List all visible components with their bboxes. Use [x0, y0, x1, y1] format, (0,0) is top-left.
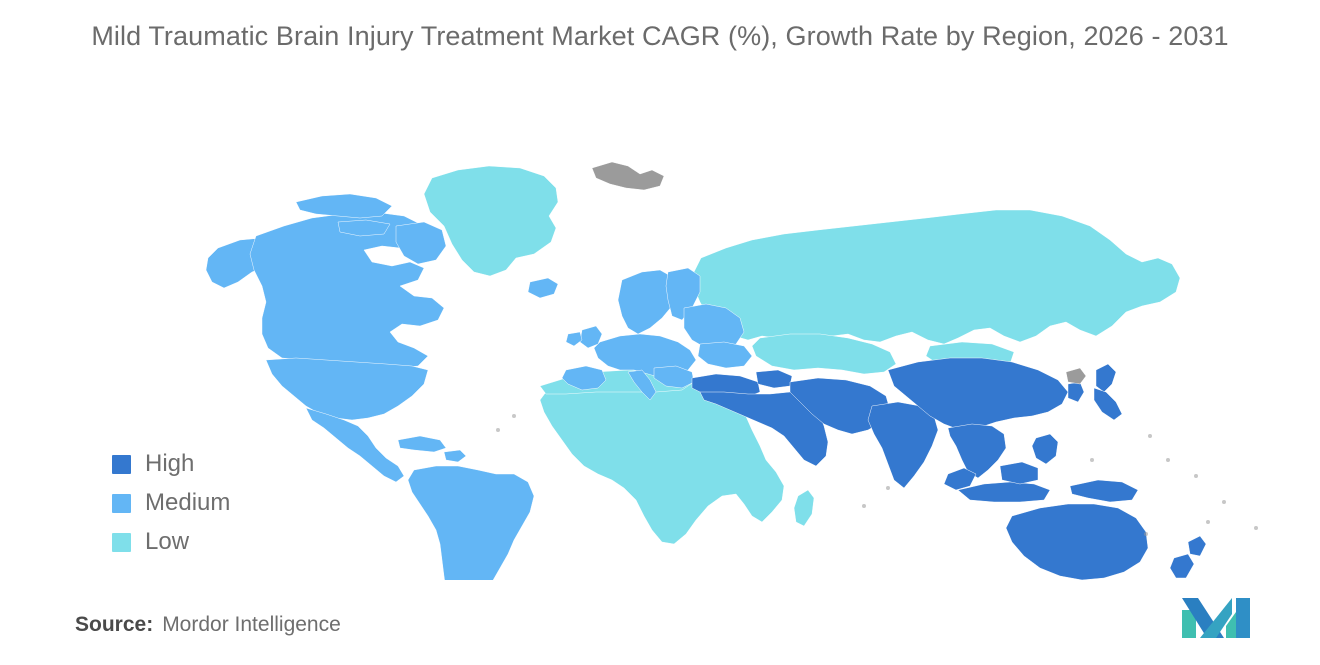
islet	[512, 414, 516, 418]
legend-item-low[interactable]: Low	[112, 530, 230, 554]
islet	[1148, 434, 1152, 438]
legend-label-medium: Medium	[145, 491, 230, 515]
country-russia	[694, 210, 1180, 348]
legend-swatch-high	[112, 455, 131, 474]
source-value: Mordor Intelligence	[162, 613, 341, 637]
legend-label-high: High	[145, 452, 194, 476]
country-iceland-medium	[528, 278, 558, 298]
region-baffin-island	[396, 222, 446, 264]
country-indonesia	[958, 482, 1050, 502]
islet	[1144, 532, 1148, 536]
country-north-korea	[1066, 368, 1086, 384]
legend-swatch-low	[112, 533, 131, 552]
islet	[862, 504, 866, 508]
region-southeast-asia	[948, 424, 1006, 478]
country-new-zealand	[1188, 536, 1206, 556]
legend-label-low: Low	[145, 530, 189, 554]
region-caribbean	[398, 436, 446, 452]
region-south-america	[408, 466, 534, 580]
legend-item-high[interactable]: High	[112, 452, 230, 476]
source-label: Source:	[75, 613, 153, 637]
legend-swatch-medium	[112, 494, 131, 513]
island-borneo	[1000, 462, 1038, 484]
page-title: Mild Traumatic Brain Injury Treatment Ma…	[60, 18, 1260, 55]
islet	[886, 486, 890, 490]
country-south-korea	[1068, 382, 1084, 402]
country-ukraine	[698, 342, 752, 368]
country-new-zealand-south	[1170, 554, 1194, 578]
country-philippines	[1032, 434, 1058, 464]
source-line: Source: Mordor Intelligence	[75, 613, 341, 637]
map-legend: High Medium Low	[112, 452, 230, 554]
islet	[1222, 500, 1226, 504]
island-new-guinea	[1070, 480, 1138, 502]
region-group-low	[424, 166, 1180, 544]
islet	[1090, 458, 1094, 462]
islet	[1166, 458, 1170, 462]
island-hispaniola	[444, 450, 466, 462]
islet	[1194, 474, 1198, 478]
country-united-states	[266, 358, 428, 420]
country-japan	[1096, 364, 1116, 392]
islet	[1206, 520, 1210, 524]
region-canadian-arctic	[296, 194, 392, 218]
legend-item-medium[interactable]: Medium	[112, 491, 230, 515]
region-svalbard	[592, 162, 664, 190]
country-india	[868, 402, 938, 488]
mordor-intelligence-logo	[1180, 596, 1258, 640]
country-australia	[1006, 504, 1148, 580]
islet	[1254, 526, 1258, 530]
country-ireland	[566, 332, 582, 346]
country-madagascar	[794, 490, 814, 526]
region-caucasus	[756, 370, 792, 388]
islet	[496, 428, 500, 432]
logo-shape-right-bar	[1236, 598, 1250, 638]
country-japan-honshu	[1094, 388, 1122, 420]
